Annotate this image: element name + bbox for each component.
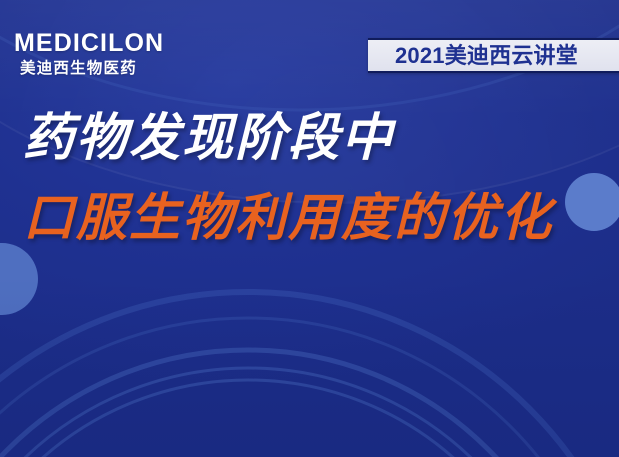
headline-line-2: 口服生物利用度的优化 — [23, 192, 603, 244]
medicilon-logo: MEDICILON 美迪西生物医药 — [14, 31, 204, 77]
headline-line-1: 药物发现阶段中 — [23, 112, 603, 164]
event-series-label: 2021美迪西云讲堂 — [395, 45, 578, 67]
poster-headline: 药物发现阶段中 口服生物利用度的优化 — [23, 112, 603, 244]
event-series-banner: 2021美迪西云讲堂 — [368, 38, 619, 73]
logo-subtitle: 美迪西生物医药 — [20, 61, 204, 77]
logo-wordmark: MEDICILON — [14, 31, 204, 56]
webinar-poster: MEDICILON 美迪西生物医药 2021美迪西云讲堂 药物发现阶段中 口服生… — [0, 0, 619, 457]
